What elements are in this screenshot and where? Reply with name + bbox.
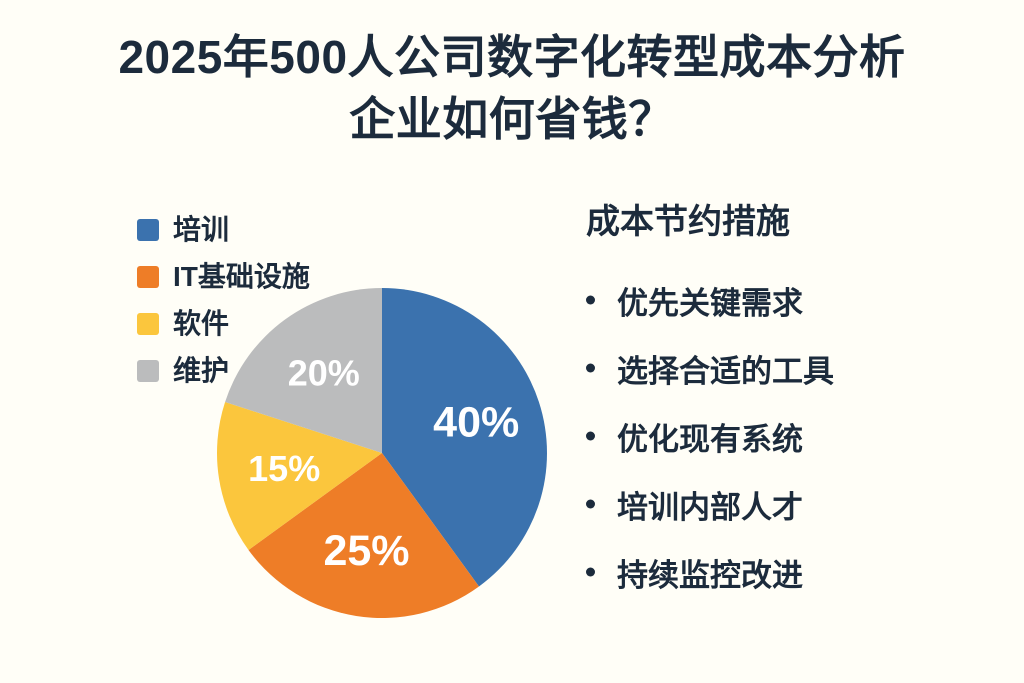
chart-legend: 培训 IT基础设施 软件 维护 <box>137 206 310 394</box>
legend-swatch-icon-software <box>137 313 159 335</box>
legend-swatch-icon-maintenance <box>137 360 159 382</box>
legend-item-training: 培训 <box>137 206 310 253</box>
cost-saving-section: 成本节约措施 优先关键需求 选择合适的工具 优化现有系统 培训内部人才 持续监控… <box>586 200 996 606</box>
page-title-line-1: 2025年500人公司数字化转型成本分析 <box>0 26 1024 88</box>
bullet-dot-icon <box>586 568 595 577</box>
list-item-label: 选择合适的工具 <box>617 346 834 391</box>
bullet-dot-icon <box>586 364 595 373</box>
pie-slice-label-培训: 40% <box>433 398 519 446</box>
cost-saving-list: 优先关键需求 选择合适的工具 优化现有系统 培训内部人才 持续监控改进 <box>586 266 996 606</box>
list-item-label: 优化现有系统 <box>617 414 803 459</box>
list-item-label: 持续监控改进 <box>617 550 803 595</box>
legend-label-it-infrastructure: IT基础设施 <box>173 262 310 292</box>
legend-item-it-infrastructure: IT基础设施 <box>137 253 310 300</box>
list-item-label: 培训内部人才 <box>617 482 803 527</box>
legend-label-software: 软件 <box>173 309 229 339</box>
legend-swatch-icon-training <box>137 219 159 241</box>
legend-label-maintenance: 维护 <box>173 356 229 386</box>
bullet-dot-icon <box>586 296 595 305</box>
legend-label-training: 培训 <box>173 215 229 245</box>
legend-swatch-icon-it-infrastructure <box>137 266 159 288</box>
legend-item-maintenance: 维护 <box>137 347 310 394</box>
bullet-dot-icon <box>586 432 595 441</box>
pie-slice-label-软件: 15% <box>248 448 320 489</box>
list-item: 选择合适的工具 <box>586 334 996 402</box>
infographic-canvas: 2025年500人公司数字化转型成本分析 企业如何省钱？ 培训 IT基础设施 软… <box>0 0 1024 683</box>
list-item: 优化现有系统 <box>586 402 996 470</box>
cost-saving-heading: 成本节约措施 <box>586 200 996 244</box>
list-item: 培训内部人才 <box>586 470 996 538</box>
pie-slice-label-IT基础设施: 25% <box>323 527 409 575</box>
list-item-label: 优先关键需求 <box>617 278 803 323</box>
title-block: 2025年500人公司数字化转型成本分析 企业如何省钱？ <box>0 26 1024 150</box>
list-item: 持续监控改进 <box>586 538 996 606</box>
list-item: 优先关键需求 <box>586 266 996 334</box>
page-title-line-2: 企业如何省钱？ <box>0 88 1024 150</box>
bullet-dot-icon <box>586 500 595 509</box>
legend-item-software: 软件 <box>137 300 310 347</box>
